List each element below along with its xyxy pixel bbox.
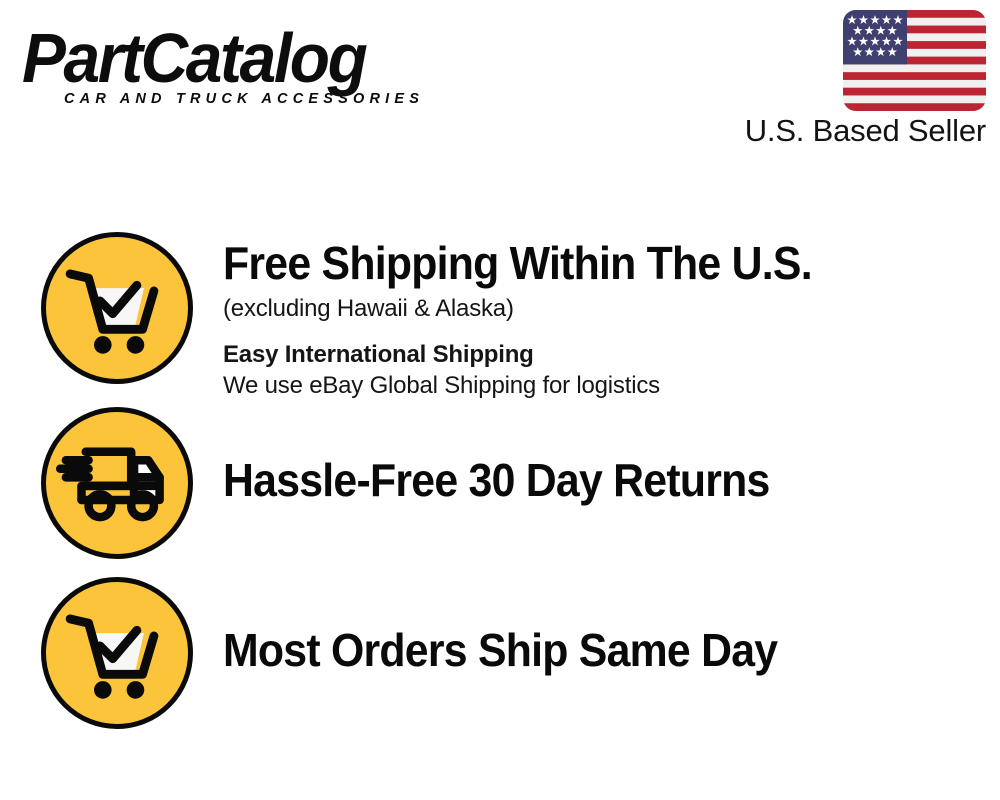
feature-subtitle-logistics: We use eBay Global Shipping for logistic… bbox=[223, 371, 1000, 401]
feature-title: Most Orders Ship Same Day bbox=[223, 625, 946, 675]
feature-text: Free Shipping Within The U.S. (excluding… bbox=[193, 232, 1000, 401]
delivery-truck-icon bbox=[46, 412, 188, 554]
seller-info-banner: PartCatalog CAR AND TRUCK ACCESSORIES bbox=[0, 0, 1000, 800]
feature-text: Hassle-Free 30 Day Returns bbox=[193, 407, 1000, 505]
feature-row: Most Orders Ship Same Day bbox=[0, 577, 1000, 747]
feature-title: Free Shipping Within The U.S. bbox=[223, 238, 946, 288]
header: PartCatalog CAR AND TRUCK ACCESSORIES bbox=[0, 0, 1000, 170]
feature-list: Free Shipping Within The U.S. (excluding… bbox=[0, 232, 1000, 747]
badge-delivery-truck bbox=[41, 407, 193, 559]
feature-row: Free Shipping Within The U.S. (excluding… bbox=[0, 232, 1000, 407]
brand-wordmark: PartCatalog bbox=[22, 22, 464, 94]
shopping-cart-check-icon bbox=[46, 237, 188, 379]
feature-subtitle-exclusions: (excluding Hawaii & Alaska) bbox=[223, 294, 1000, 324]
badge-shopping-cart-check bbox=[41, 577, 193, 729]
feature-row: Hassle-Free 30 Day Returns bbox=[0, 407, 1000, 577]
badge-shopping-cart-check bbox=[41, 232, 193, 384]
feature-text: Most Orders Ship Same Day bbox=[193, 577, 1000, 675]
feature-title: Hassle-Free 30 Day Returns bbox=[223, 455, 946, 505]
us-based-seller-label: U.S. Based Seller bbox=[726, 113, 986, 149]
us-based-seller-block: U.S. Based Seller bbox=[726, 10, 986, 149]
us-flag-icon bbox=[843, 10, 986, 111]
shopping-cart-check-icon bbox=[46, 582, 188, 724]
feature-subtitle-international: Easy International Shipping bbox=[223, 340, 1000, 370]
brand-logo: PartCatalog CAR AND TRUCK ACCESSORIES bbox=[22, 22, 492, 114]
